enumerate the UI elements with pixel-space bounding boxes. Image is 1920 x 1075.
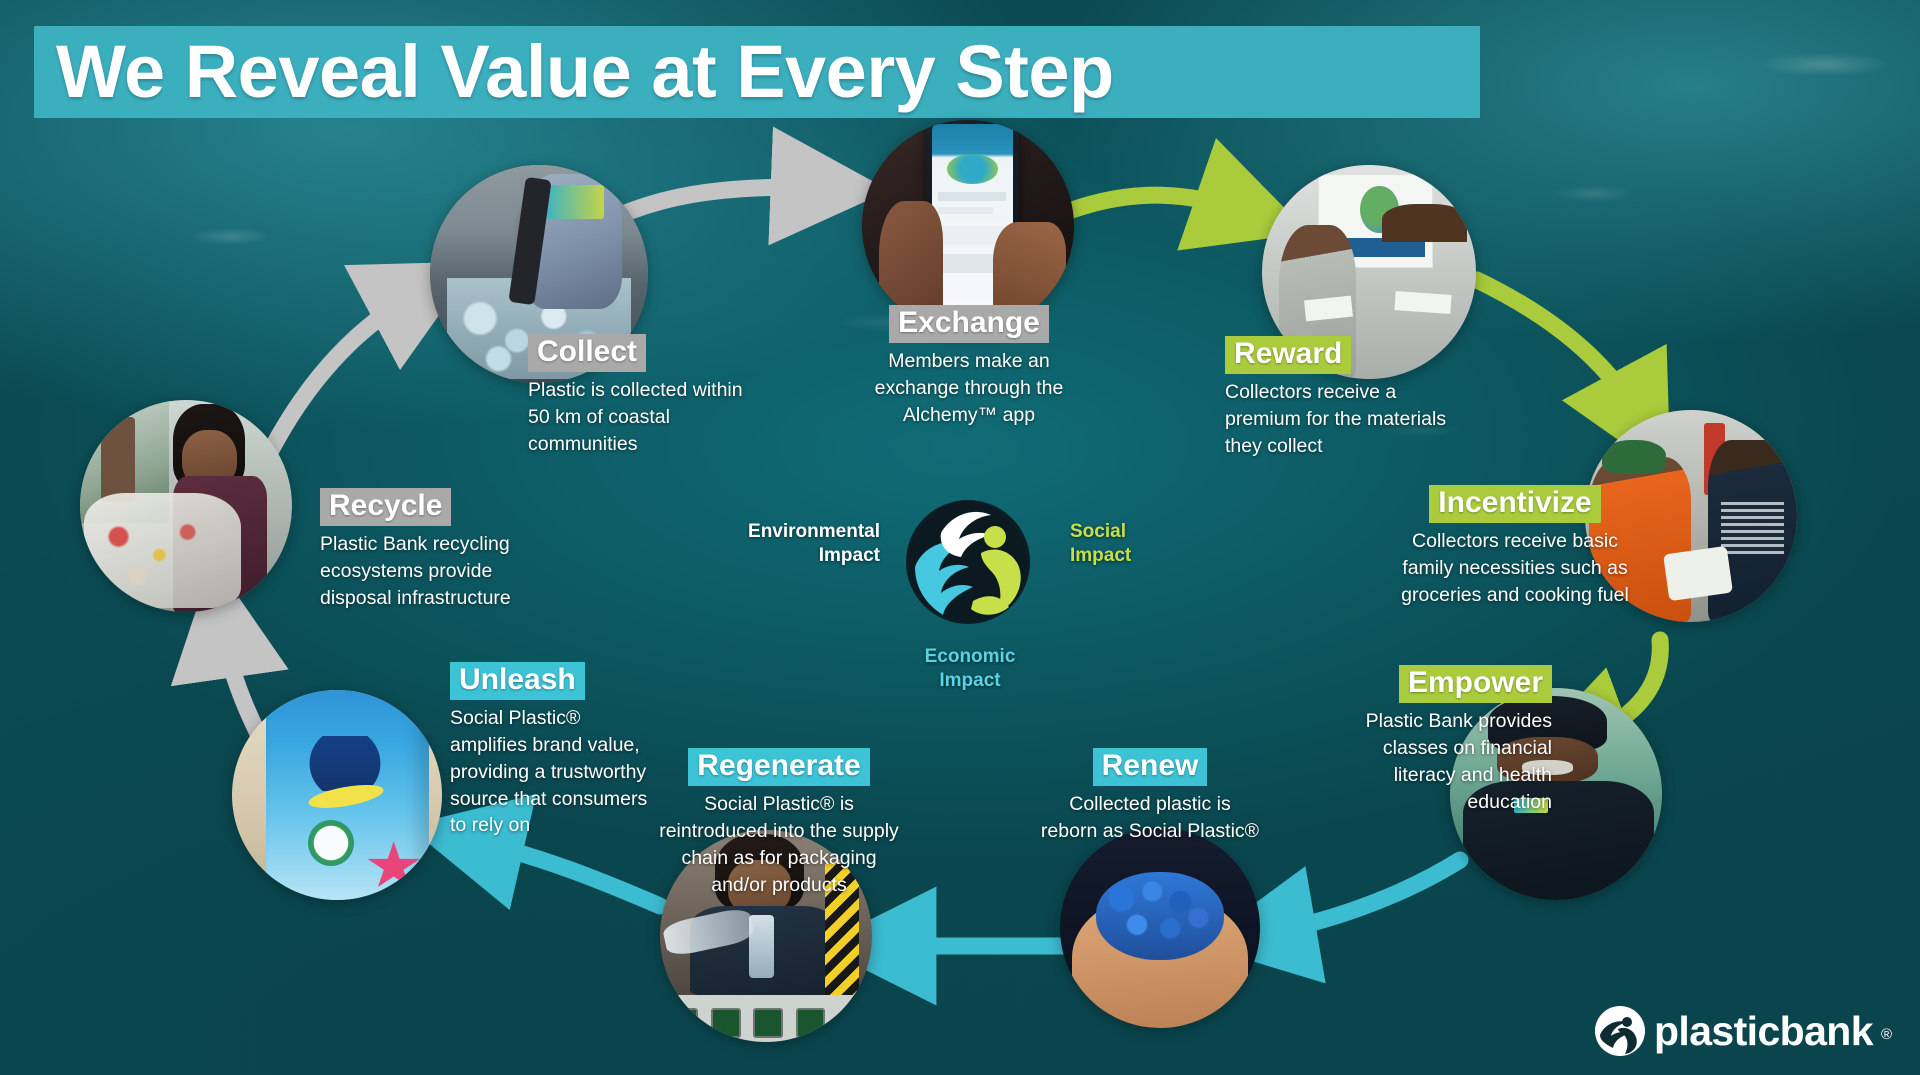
arrow-regenerate-to-unleash [470, 840, 660, 906]
step-incentivize-description: Collectors receive basic family necessit… [1395, 528, 1635, 609]
photo-renew [1060, 828, 1260, 1028]
impact-economic-line1: Economic [880, 645, 1060, 669]
step-unleash-label: Unleash [450, 662, 585, 700]
step-reward-description: Collectors receive a premium for the mat… [1225, 379, 1455, 460]
step-exchange-description: Members make an exchange through the Alc… [860, 348, 1078, 429]
arrow-empower-to-renew [1262, 860, 1460, 934]
impact-social-line1: Social [1070, 520, 1220, 544]
step-renew: Renew Collected plastic is reborn as Soc… [1040, 748, 1260, 845]
brand-logo: plasticbank ® [1594, 1005, 1892, 1057]
brand-registered-mark: ® [1881, 1027, 1892, 1042]
impact-environmental-line2: Impact [720, 544, 880, 568]
step-collect: Collect Plastic is collected within 50 k… [528, 334, 758, 458]
step-reward: Reward Collectors receive a premium for … [1225, 336, 1455, 460]
arrow-exchange-to-reward [1072, 195, 1248, 212]
plastic-bank-globe-logo [903, 497, 1033, 627]
arrow-reward-to-incentivize [1477, 280, 1640, 420]
step-exchange: Exchange Members make an exchange throug… [860, 305, 1078, 429]
step-empower: Empower Plastic Bank provides classes on… [1320, 665, 1552, 815]
step-renew-label: Renew [1093, 748, 1208, 786]
impact-label-social: Social Impact [1070, 520, 1220, 568]
photo-exchange [862, 120, 1074, 332]
impact-economic-line2: Impact [880, 669, 1060, 693]
step-recycle-label: Recycle [320, 488, 451, 526]
step-regenerate-description: Social Plastic® is reintroduced into the… [655, 791, 903, 899]
step-recycle-description: Plastic Bank recycling ecosystems provid… [320, 531, 565, 612]
photo-exchange-image [862, 120, 1074, 332]
step-regenerate: Regenerate Social Plastic® is reintroduc… [655, 748, 903, 898]
photo-recycle [80, 400, 292, 612]
impact-environmental-line1: Environmental [720, 520, 880, 544]
step-collect-label: Collect [528, 334, 646, 372]
brand-name: plasticbank [1654, 1011, 1873, 1052]
photo-recycle-image [80, 400, 292, 612]
step-empower-description: Plastic Bank provides classes on financi… [1320, 708, 1552, 816]
impact-social-line2: Impact [1070, 544, 1220, 568]
step-regenerate-label: Regenerate [688, 748, 869, 786]
page-title-bar: We Reveal Value at Every Step [34, 26, 1480, 118]
step-collect-description: Plastic is collected within 50 km of coa… [528, 377, 758, 458]
step-unleash: Unleash Social Plastic® amplifies brand … [450, 662, 658, 839]
plastic-bank-mark-icon [1594, 1005, 1646, 1057]
step-recycle: Recycle Plastic Bank recycling ecosystem… [320, 488, 565, 612]
infographic-canvas: We Reveal Value at Every Step [0, 0, 1920, 1075]
impact-label-environmental: Environmental Impact [720, 520, 880, 568]
step-empower-label: Empower [1399, 665, 1552, 703]
step-incentivize-label: Incentivize [1429, 485, 1600, 523]
step-renew-description: Collected plastic is reborn as Social Pl… [1040, 791, 1260, 845]
page-title: We Reveal Value at Every Step [56, 35, 1114, 109]
photo-unleash [232, 690, 442, 900]
step-reward-label: Reward [1225, 336, 1351, 374]
step-exchange-label: Exchange [889, 305, 1049, 343]
photo-unleash-image [232, 690, 442, 900]
step-unleash-description: Social Plastic® amplifies brand value, p… [450, 705, 658, 840]
step-incentivize: Incentivize Collectors receive basic fam… [1395, 485, 1635, 609]
photo-renew-image [1060, 828, 1260, 1028]
impact-label-economic: Economic Impact [880, 645, 1060, 693]
